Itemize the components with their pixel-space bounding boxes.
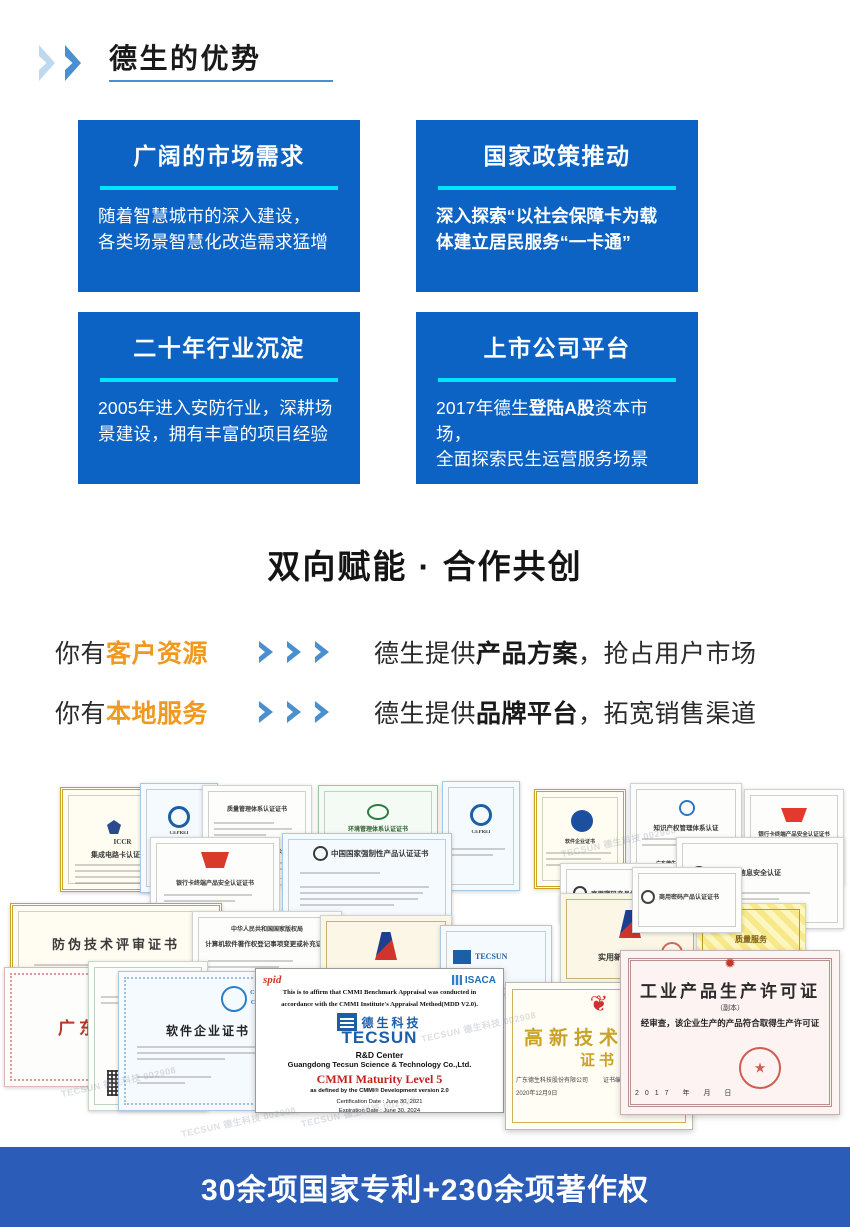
page-title: 德生的优势 [109, 44, 262, 75]
card-body: 随着智慧城市的深入建设， 各类场景智慧化改造需求猛增 [96, 204, 342, 255]
card-body: 2005年进入安防行业，深耕场 景建设，拥有丰富的项目经验 [96, 396, 342, 447]
isaca-logo: ISACA [452, 975, 496, 986]
synergy-right-emphasis: 产品方案 [476, 640, 578, 668]
chevron-right-light-icon [38, 44, 61, 82]
cmmi-affirm-line-2: accordance with the CMMI Institute's App… [263, 1001, 496, 1010]
license-date: 2017 年 月 日 [635, 1088, 737, 1098]
synergy-left-prefix: 你有 [55, 700, 106, 728]
card-divider [100, 378, 338, 382]
synergy-left-highlight: 客户资源 [106, 640, 208, 668]
synergy-right-text: 德生提供品牌平台，拓宽销售渠道 [374, 694, 757, 730]
banner-text: 30余项国家专利+230余项著作权 [201, 1165, 649, 1209]
section-title-wrap: 德生的优势 [109, 44, 262, 82]
chevron-group [38, 44, 87, 82]
certificate-cmmi: spid ISACA This is to affirm that CMMI B… [255, 968, 504, 1113]
card-body-seg: 2017年德生 [436, 398, 529, 418]
card-body-line: 体建立居民服务“一卡通” [436, 230, 680, 255]
triple-chevron-icon [240, 699, 360, 725]
card-body-emphasis: 登陆A股 [529, 398, 595, 418]
advantage-cards-grid: 广阔的市场需求 随着智慧城市的深入建设， 各类场景智慧化改造需求猛增 国家政策推… [78, 120, 778, 484]
card-body: 深入探索“以社会保障卡为载 体建立居民服务“一卡通” [434, 204, 680, 255]
card-divider [438, 186, 676, 190]
synergy-right-prefix: 德生提供 [374, 700, 476, 728]
card-title: 上市公司平台 [484, 336, 631, 361]
mid-section-heading: 双向赋能 · 合作共创 [0, 540, 850, 588]
synergy-right-prefix: 德生提供 [374, 640, 476, 668]
certificate-production-license: ✹ 工业产品生产许可证 （副本） 经审查，该企业生产的产品符合取得生产许可证 2… [620, 950, 840, 1115]
synergy-row-1: 你有客户资源 德生提供产品方案，抢占用户市场 [0, 634, 850, 670]
hitech-date: 2020年12月9日 [516, 1088, 557, 1097]
certificate-thumb: CEPREI [442, 781, 520, 891]
advantages-page: 德生的优势 广阔的市场需求 随着智慧城市的深入建设， 各类场景智慧化改造需求猛增… [0, 0, 850, 1227]
card-body-line: 2005年进入安防行业，深耕场 [98, 396, 342, 421]
card-title: 国家政策推动 [484, 144, 631, 169]
license-sub: （副本） [621, 1003, 839, 1013]
synergy-right-suffix: ，抢占用户市场 [578, 640, 757, 668]
synergy-left-text: 你有本地服务 [55, 694, 240, 730]
chevron-right-dark-icon [64, 44, 87, 82]
certificate-collage: ICCR 集成电路卡认证证书 CEPREI ANAB 质量管理体系认证证书 广东… [0, 775, 850, 1150]
triple-chevron-icon [240, 639, 360, 665]
synergy-right-suffix: ，拓宽销售渠道 [578, 700, 757, 728]
spid-logo: spid [263, 974, 281, 986]
isaca-label: ISACA [465, 975, 496, 986]
cmmi-affirm-line-1: This is to affirm that CMMI Benchmark Ap… [263, 989, 496, 998]
section-header: 德生的优势 [0, 30, 850, 96]
official-seal [739, 1047, 781, 1089]
tecsun-mark-icon [337, 1013, 357, 1031]
synergy-row-2: 你有本地服务 德生提供品牌平台，拓宽销售渠道 [0, 694, 850, 730]
card-body-line: 2017年德生登陆A股资本市场， [436, 396, 680, 447]
cmmi-company: Guangdong Tecsun Science & Technology Co… [263, 1060, 496, 1069]
card-title: 二十年行业沉淀 [133, 336, 305, 361]
synergy-left-prefix: 你有 [55, 640, 106, 668]
cmmi-defined-by: as defined by the CMMI® Development vers… [263, 1088, 496, 1094]
cmmi-rd-center: R&D Center [263, 1050, 496, 1060]
card-title: 广阔的市场需求 [133, 144, 305, 169]
synergy-right-text: 德生提供产品方案，抢占用户市场 [374, 634, 757, 670]
card-body-line: 全面探索民生运营服务场景 [436, 447, 680, 472]
advantage-card-3: 二十年行业沉淀 2005年进入安防行业，深耕场 景建设，拥有丰富的项目经验 [78, 312, 360, 484]
isaca-mark-icon [452, 975, 462, 985]
license-title: 工业产品生产许可证 [621, 977, 839, 1002]
card-divider [438, 378, 676, 382]
card-body-line: 景建设，拥有丰富的项目经验 [98, 422, 342, 447]
card-divider [100, 186, 338, 190]
bottom-banner: 30余项国家专利+230余项著作权 [0, 1147, 850, 1227]
license-sub2: 经审查，该企业生产的产品符合取得生产许可证 [621, 1017, 839, 1029]
card-body-line: 随着智慧城市的深入建设， [98, 204, 342, 229]
synergy-left-text: 你有客户资源 [55, 634, 240, 670]
card-body-line: 深入探索“以社会保障卡为载 [436, 204, 680, 229]
card-body: 2017年德生登陆A股资本市场， 全面探索民生运营服务场景 [434, 396, 680, 472]
advantage-card-2: 国家政策推动 深入探索“以社会保障卡为载 体建立居民服务“一卡通” [416, 120, 698, 292]
certificate-thumb: 商用密码产品认证证书 [632, 867, 742, 933]
hitech-company: 广东德生科技股份有限公司 [516, 1075, 588, 1084]
card-body-line: 各类场景智慧化改造需求猛增 [98, 230, 342, 255]
cmmi-level: CMMI Maturity Level 5 [263, 1072, 496, 1087]
advantage-card-1: 广阔的市场需求 随着智慧城市的深入建设， 各类场景智慧化改造需求猛增 [78, 120, 360, 292]
synergy-left-highlight: 本地服务 [106, 700, 208, 728]
synergy-right-emphasis: 品牌平台 [476, 700, 578, 728]
title-underline [109, 80, 333, 82]
advantage-card-4: 上市公司平台 2017年德生登陆A股资本市场， 全面探索民生运营服务场景 [416, 312, 698, 484]
flame-icon: ❦ [590, 993, 608, 1015]
emblem-icon: ✹ [724, 955, 736, 972]
